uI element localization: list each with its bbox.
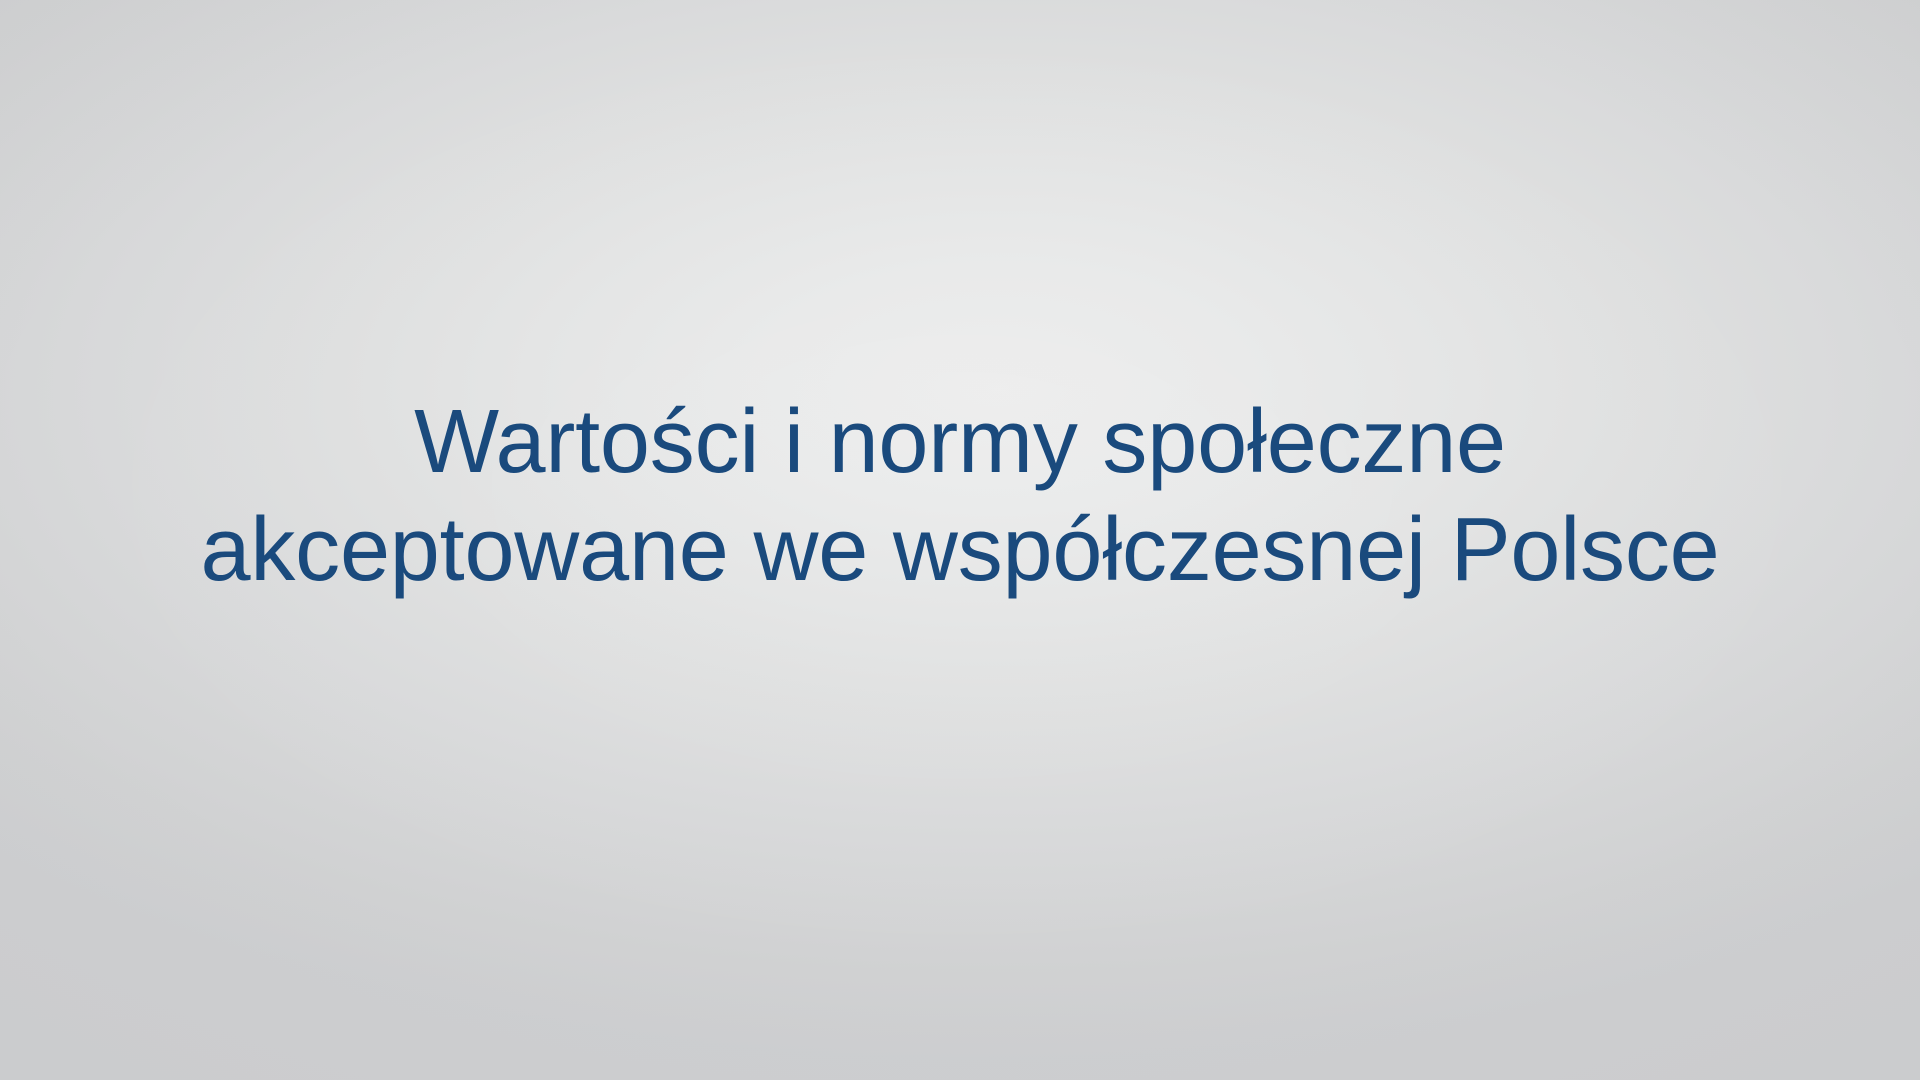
title-line-1: Wartości i normy społeczne [0,388,1920,496]
title-line-2: akceptowane we współczesnej Polsce [0,496,1920,604]
slide-title: Wartości i normy społeczne akceptowane w… [0,388,1920,604]
slide-canvas: Wartości i normy społeczne akceptowane w… [0,0,1920,1080]
